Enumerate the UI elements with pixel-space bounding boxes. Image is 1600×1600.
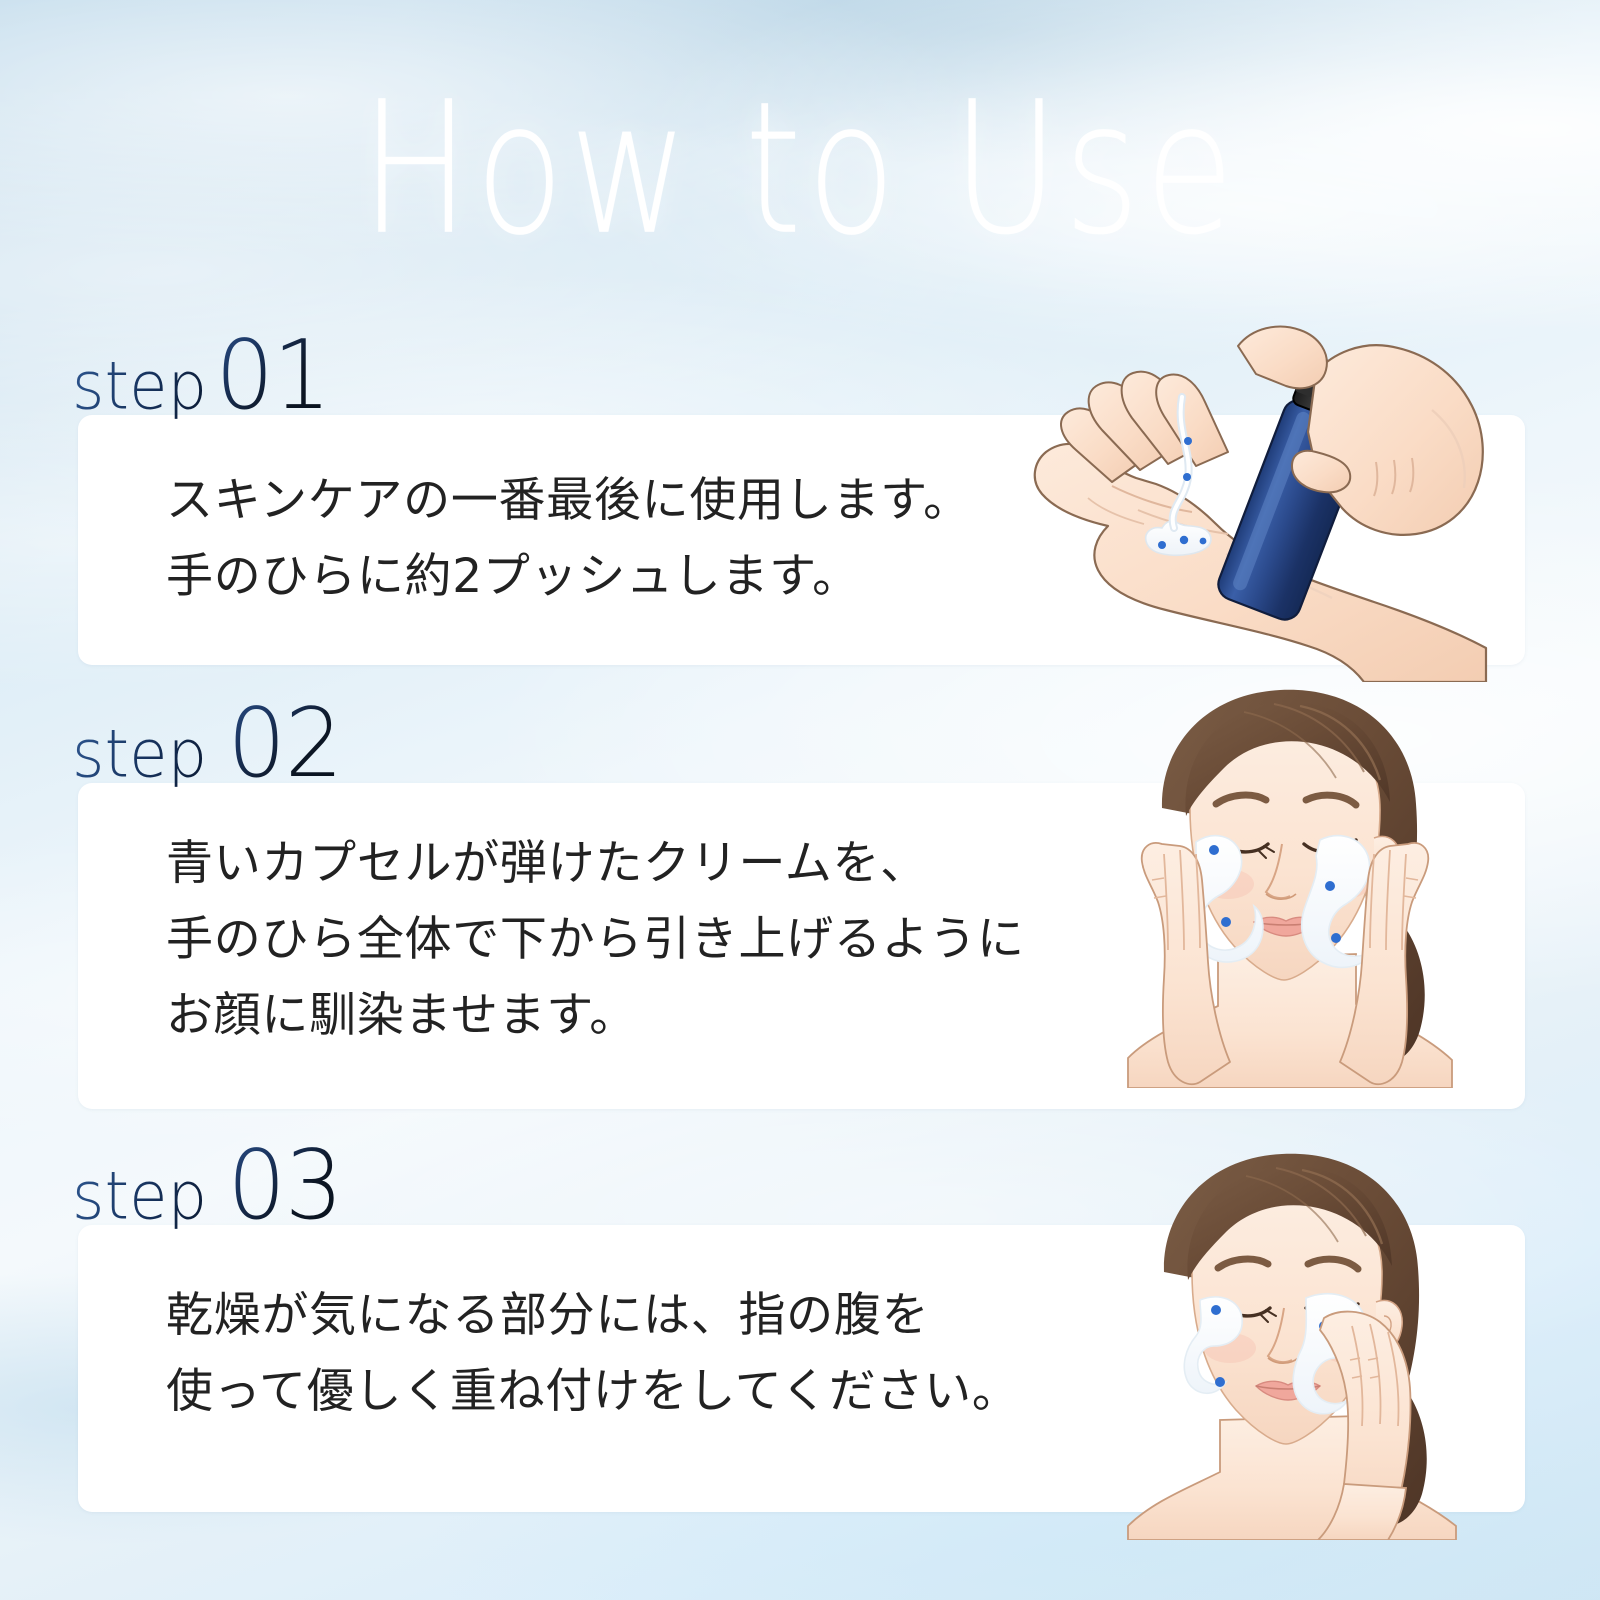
- page-title: How to Use: [24, 78, 1576, 261]
- step-number-1: 01: [215, 328, 330, 424]
- step-word-1: step: [72, 353, 207, 419]
- step-number-3: 03: [227, 1138, 342, 1234]
- step-body-3: 乾燥が気になる部分には、指の腹を 使って優しく重ね付けをしてください。: [166, 1278, 1020, 1430]
- step-word-3: step: [72, 1163, 207, 1229]
- step-body-1: スキンケアの一番最後に使用します。 手のひらに約2プッシュします。: [166, 463, 971, 615]
- step-word-2: step: [72, 721, 207, 787]
- step-number-2: 02: [227, 696, 342, 792]
- step-body-2: 青いカプセルが弾けたクリームを、 手のひら全体で下から引き上げるように お顔に馴…: [166, 826, 1025, 1054]
- step-label-3: step 03: [72, 1140, 342, 1232]
- step-label-1: step 01: [72, 330, 330, 422]
- step-label-2: step 02: [72, 698, 342, 790]
